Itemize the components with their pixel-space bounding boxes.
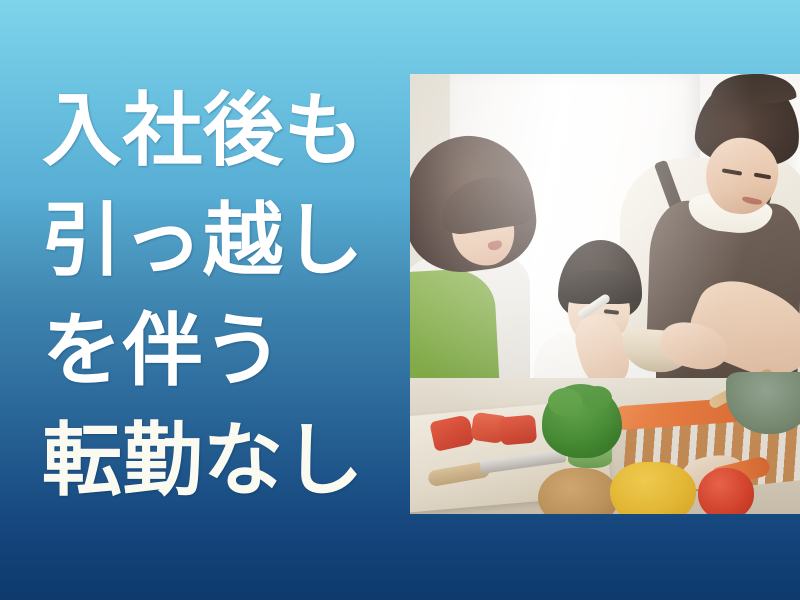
recruitment-banner: 入社後も 引っ越し を伴う 転勤なし [0,0,800,600]
father-hair-top [709,74,796,106]
headline-line-1: 入社後も [42,76,392,186]
tomato-slice-3 [499,414,537,445]
headline-line-4: 転勤なし [42,406,392,516]
broccoli-floret-1 [548,388,582,416]
potato [538,468,618,514]
headline-block: 入社後も 引っ越し を伴う 転勤なし [42,76,392,516]
whole-tomato [698,468,754,514]
headline-line-2: 引っ越し [42,186,392,296]
bell-pepper [610,462,696,514]
broccoli-floret-2 [582,386,612,410]
headline-line-3: を伴う [42,296,392,406]
family-cooking-photo [410,74,800,514]
photo-scene [410,74,800,514]
